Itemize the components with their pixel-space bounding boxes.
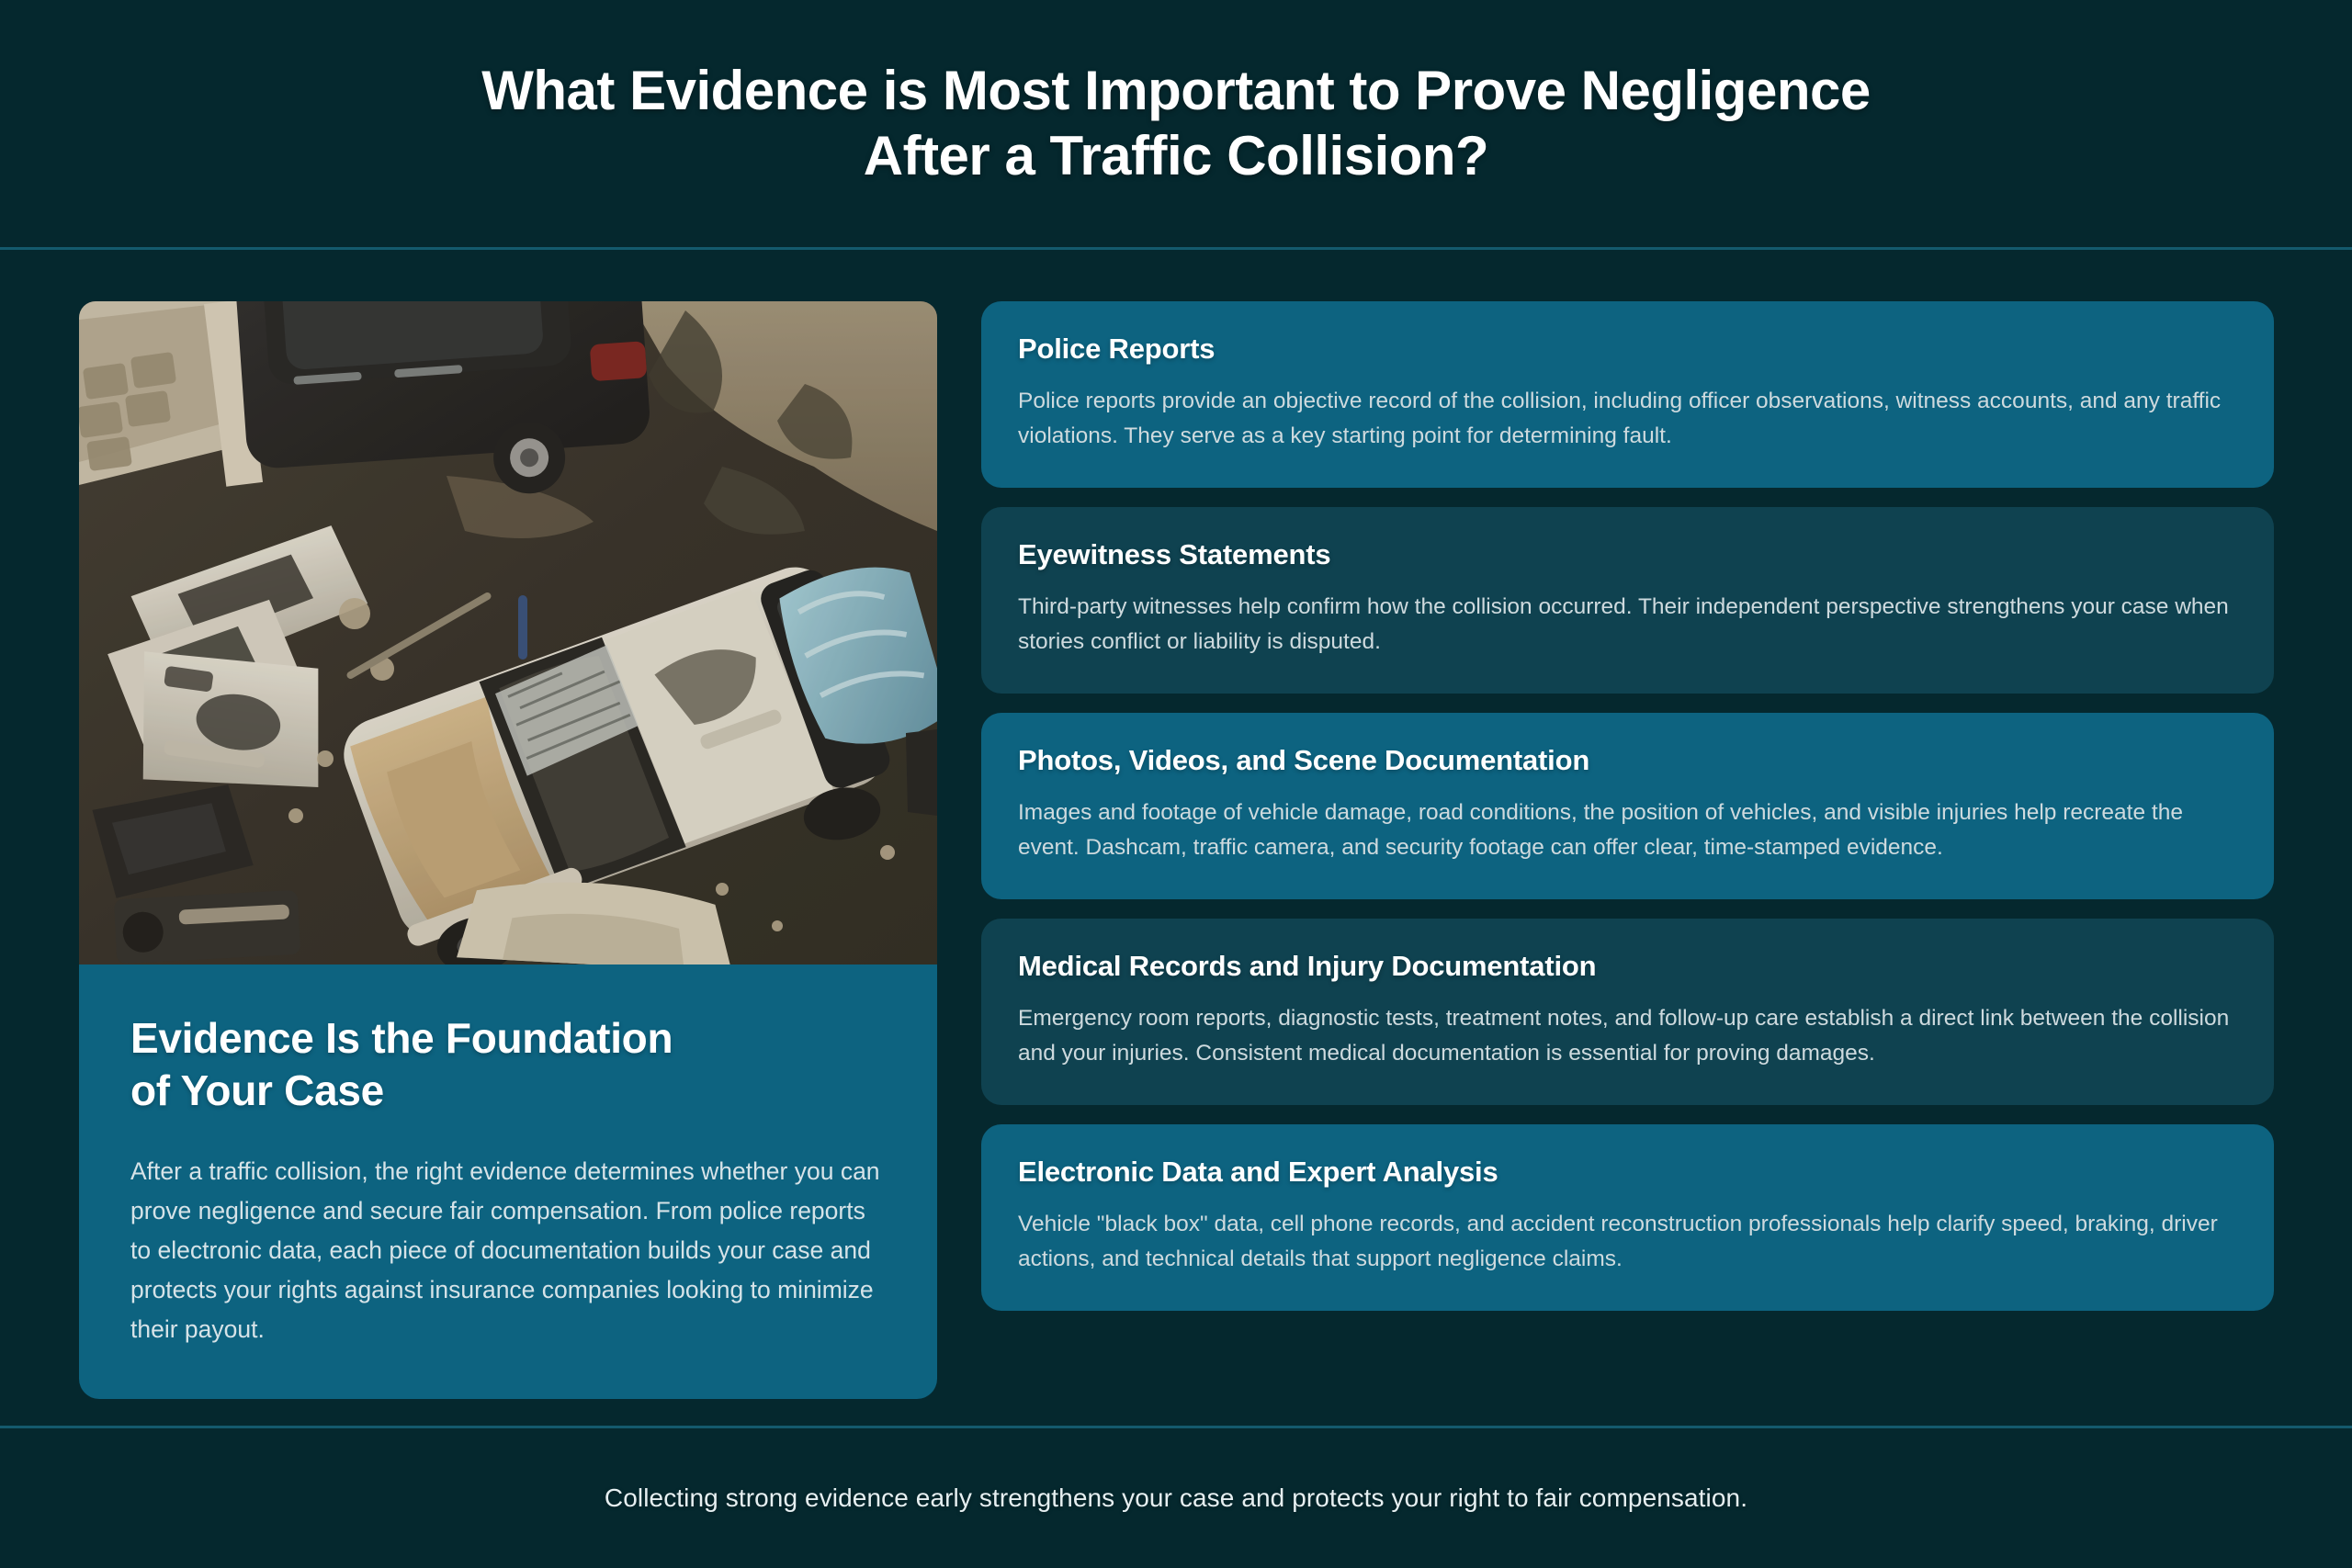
- collision-photo-illustration: [79, 301, 937, 964]
- page-title-line-1: What Evidence is Most Important to Prove…: [481, 60, 1870, 121]
- evidence-card-body: Vehicle "black box" data, cell phone rec…: [1018, 1207, 2237, 1278]
- evidence-card-electronic-data: Electronic Data and Expert Analysis Vehi…: [981, 1124, 2274, 1311]
- evidence-foundation-title-line-1: Evidence Is the Foundation: [130, 1014, 673, 1062]
- evidence-card-title: Electronic Data and Expert Analysis: [1018, 1156, 2237, 1189]
- evidence-card-title: Police Reports: [1018, 333, 2237, 366]
- evidence-foundation-title: Evidence Is the Foundation of Your Case: [130, 1012, 886, 1117]
- evidence-card-body: Police reports provide an objective reco…: [1018, 384, 2237, 455]
- evidence-card-title: Medical Records and Injury Documentation: [1018, 950, 2237, 983]
- evidence-cards-list: Police Reports Police reports provide an…: [981, 301, 2274, 1311]
- footer: Collecting strong evidence early strengt…: [0, 1426, 2352, 1568]
- evidence-card-medical-records: Medical Records and Injury Documentation…: [981, 919, 2274, 1105]
- evidence-foundation-body: After a traffic collision, the right evi…: [130, 1152, 886, 1349]
- header: What Evidence is Most Important to Prove…: [0, 0, 2352, 250]
- page-title-line-2: After a Traffic Collision?: [481, 124, 1870, 188]
- evidence-foundation-card: Evidence Is the Foundation of Your Case …: [79, 964, 937, 1399]
- main-content: Evidence Is the Foundation of Your Case …: [0, 250, 2352, 1426]
- evidence-card-eyewitness-statements: Eyewitness Statements Third-party witnes…: [981, 507, 2274, 694]
- evidence-card-police-reports: Police Reports Police reports provide an…: [981, 301, 2274, 488]
- infographic-page: What Evidence is Most Important to Prove…: [0, 0, 2352, 1568]
- evidence-card-title: Photos, Videos, and Scene Documentation: [1018, 744, 2237, 777]
- footer-text: Collecting strong evidence early strengt…: [605, 1483, 1747, 1513]
- evidence-card-photos-videos-scene: Photos, Videos, and Scene Documentation …: [981, 713, 2274, 899]
- evidence-card-title: Eyewitness Statements: [1018, 538, 2237, 571]
- evidence-card-body: Emergency room reports, diagnostic tests…: [1018, 1001, 2237, 1072]
- page-title: What Evidence is Most Important to Prove…: [481, 59, 1870, 187]
- collision-photo: [79, 301, 937, 964]
- left-column: Evidence Is the Foundation of Your Case …: [79, 301, 937, 1399]
- evidence-card-body: Images and footage of vehicle damage, ro…: [1018, 795, 2237, 866]
- evidence-card-body: Third-party witnesses help confirm how t…: [1018, 590, 2237, 660]
- evidence-foundation-title-line-2: of Your Case: [130, 1065, 886, 1117]
